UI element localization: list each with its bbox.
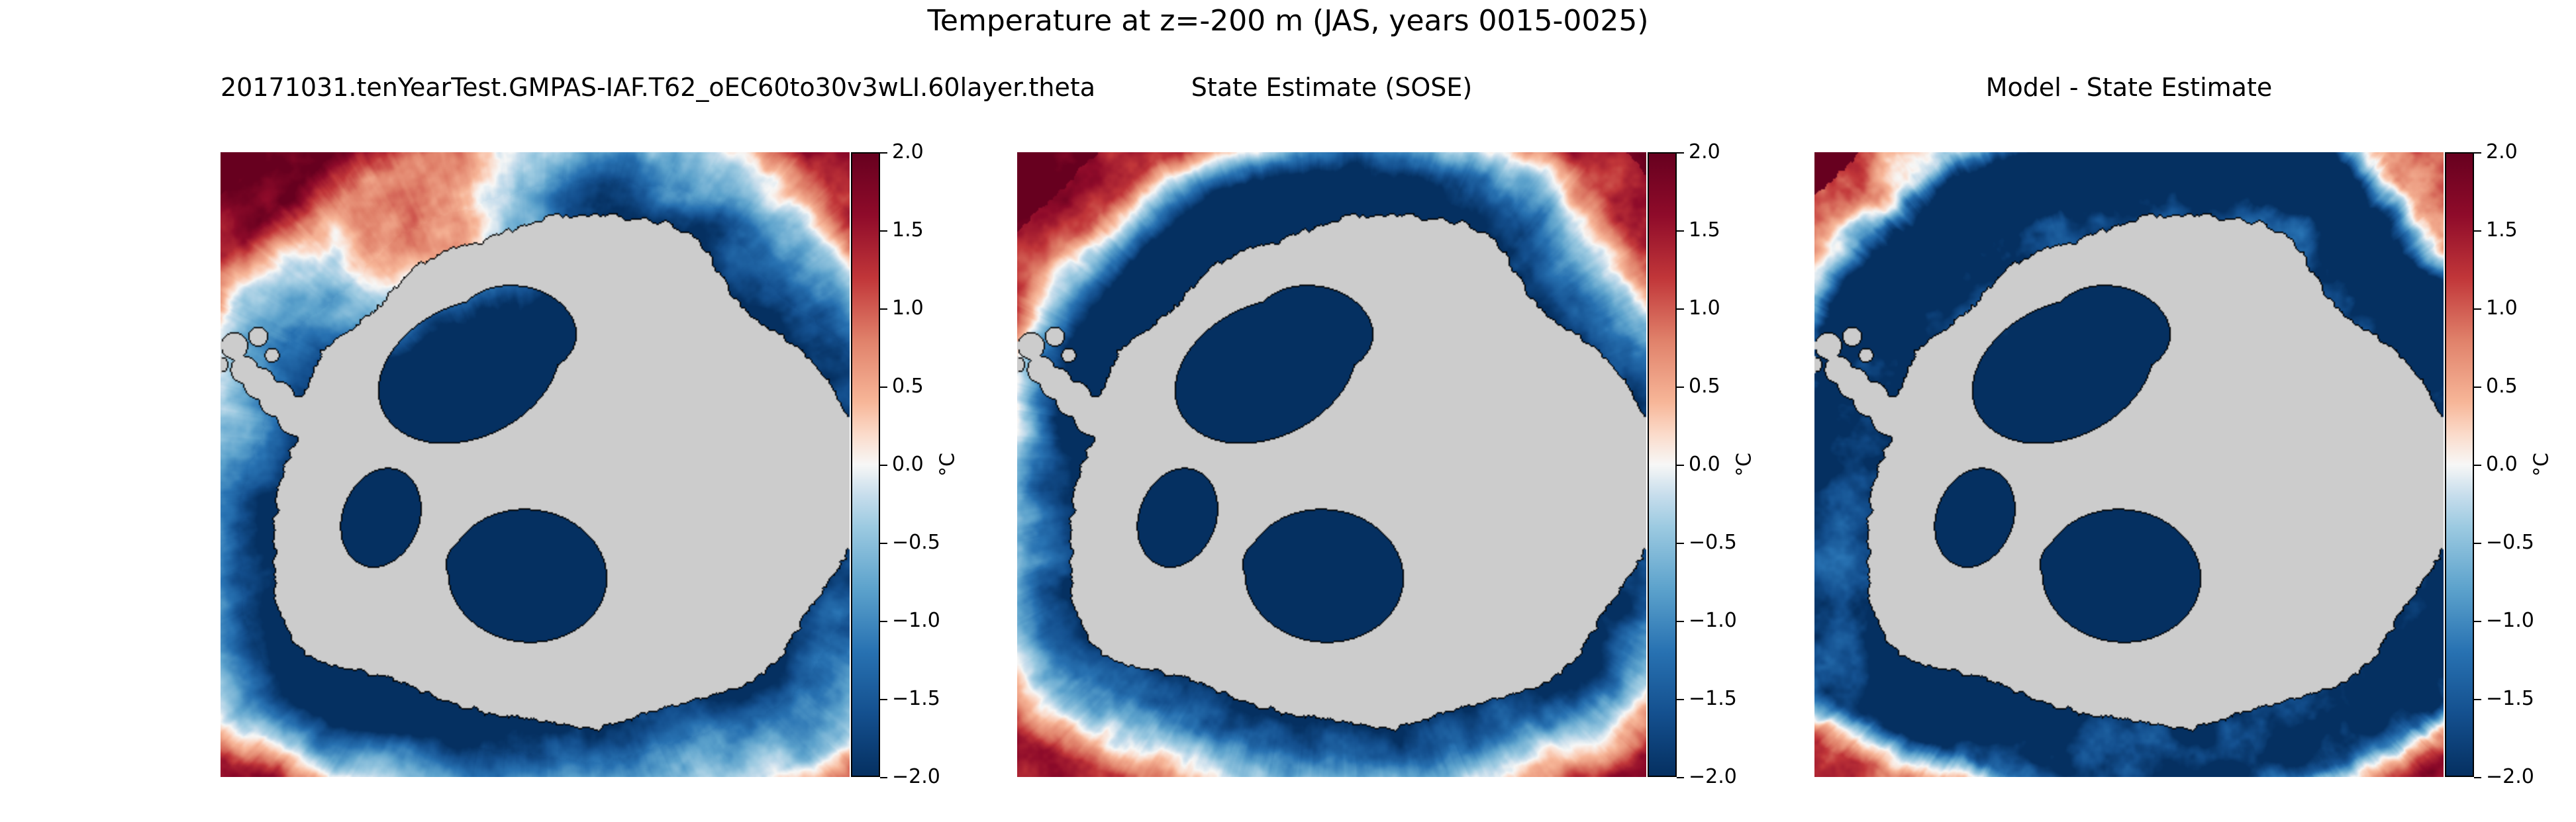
colorbar-difference[interactable]: °C 2.01.51.00.50.0−0.5−1.0−1.5−2.0 xyxy=(2445,152,2544,777)
colorbar-tick-label: 1.5 xyxy=(2486,220,2518,240)
colorbar-axis-label-difference: °C xyxy=(2530,453,2553,477)
colorbar-tick xyxy=(2474,230,2481,232)
panel-title-difference: Model - State Estimate xyxy=(1814,73,2444,102)
colorbar-tick xyxy=(2474,387,2481,388)
colorbar-tick xyxy=(2474,465,2481,466)
colorbar-tick-label: 0.0 xyxy=(2486,455,2518,475)
colorbar-tick-label: 0.5 xyxy=(2486,377,2518,396)
colorbar-tick xyxy=(2474,308,2481,310)
colorbar-tick-label: 2.0 xyxy=(2486,142,2518,162)
colorbar-gradient-difference xyxy=(2445,152,2474,777)
colorbar-tick-label: −1.5 xyxy=(2486,689,2534,709)
colorbar-tick-label: −1.0 xyxy=(2486,611,2534,631)
map-image-difference xyxy=(1814,152,2444,777)
figure-root: Temperature at z=-200 m (JAS, years 0015… xyxy=(0,0,2576,822)
colorbar-tick xyxy=(2474,621,2481,622)
panel-difference: Model - State Estimate °C 2.01.51.00.50.… xyxy=(0,0,2576,822)
colorbar-tick-label: −0.5 xyxy=(2486,533,2534,553)
colorbar-tick xyxy=(2474,699,2481,700)
colorbar-tick xyxy=(2474,543,2481,544)
colorbar-tick xyxy=(2474,152,2481,154)
colorbar-tick-label: 1.0 xyxy=(2486,298,2518,318)
colorbar-tick xyxy=(2474,777,2481,778)
colorbar-tick-label: −2.0 xyxy=(2486,767,2534,787)
map-axes-difference[interactable] xyxy=(1814,152,2444,777)
